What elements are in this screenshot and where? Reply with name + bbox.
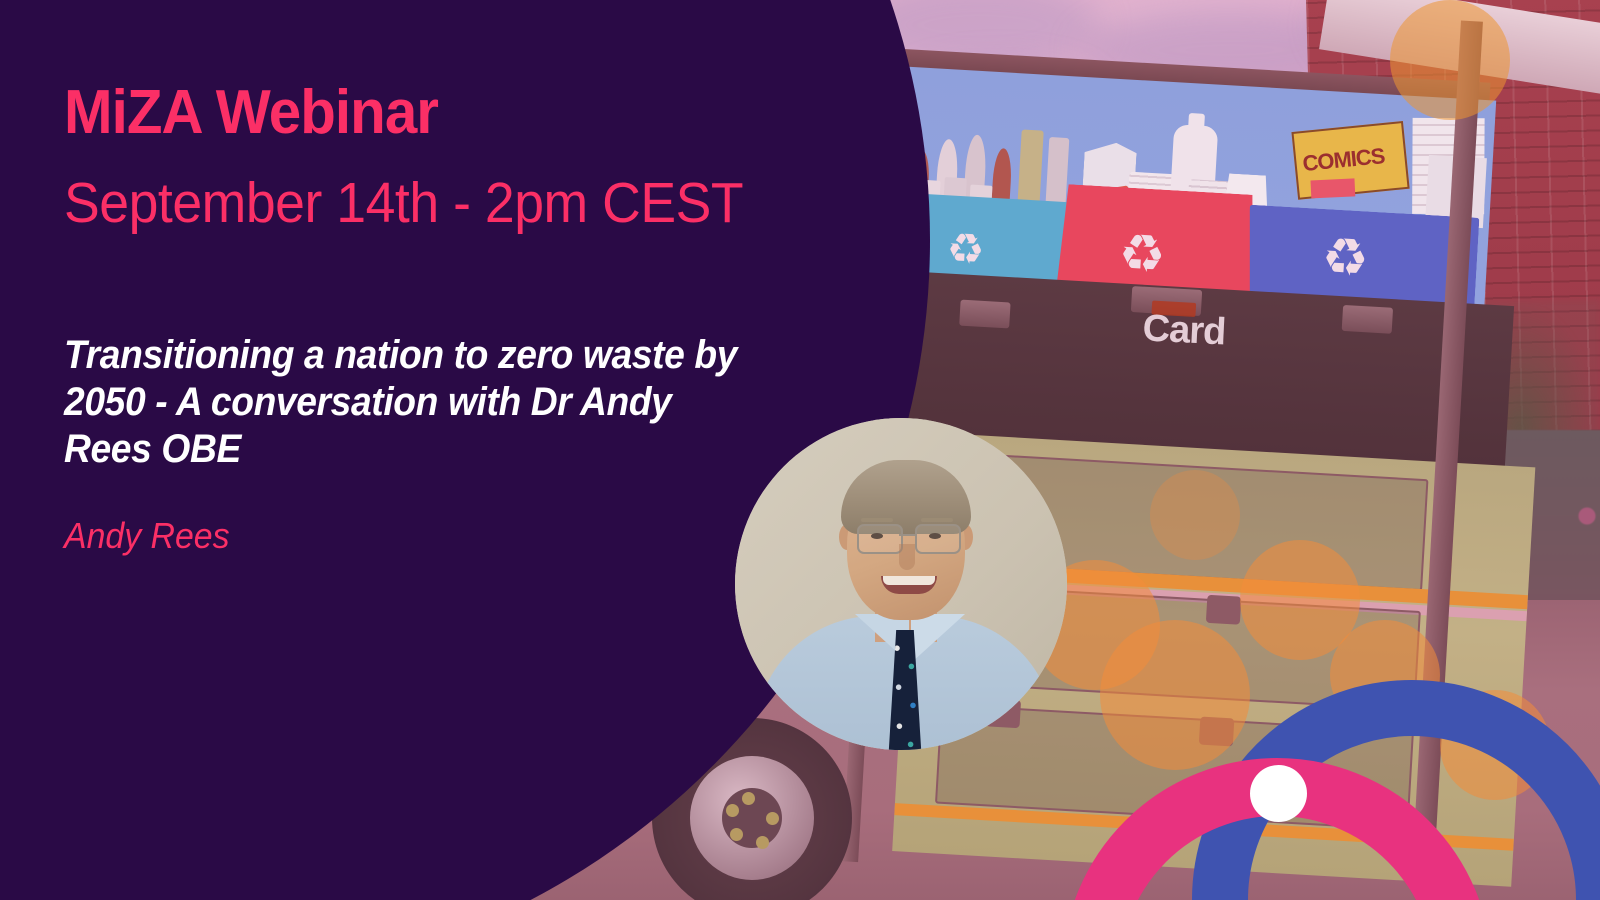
recycle-icon: ♻ (1117, 227, 1167, 282)
text-content: MiZA Webinar September 14th - 2pm CEST T… (0, 0, 820, 900)
orange-circle (1390, 0, 1510, 120)
avatar-glasses-bridge (899, 534, 915, 536)
recycle-icon: ♻ (1320, 231, 1370, 286)
avatar-eyebrow (921, 518, 953, 522)
compartment-latch (1342, 305, 1393, 334)
brand-title: MiZA Webinar (64, 82, 438, 144)
orange-circle (1150, 470, 1240, 560)
truck-card-label: Card (1142, 307, 1227, 354)
avatar-eyebrow (861, 518, 893, 522)
webinar-promo-banner: COMICS ♻ ♻ ♻ Card (0, 0, 1600, 900)
avatar-teeth (883, 576, 935, 585)
avatar-nose (899, 544, 915, 570)
recycle-icon: ♻ (946, 227, 986, 271)
speaker-name: Andy Rees (64, 518, 230, 554)
hinge (1206, 595, 1242, 625)
webinar-topic: Transitioning a nation to zero waste by … (64, 332, 743, 474)
orange-circle (1100, 620, 1250, 770)
event-date: September 14th - 2pm CEST (64, 175, 743, 232)
avatar-glasses-lens (915, 524, 961, 554)
comics-tag (1310, 178, 1355, 198)
comics-sign-label: COMICS (1301, 143, 1385, 177)
white-circle (1250, 765, 1307, 822)
avatar-glasses-lens (857, 524, 903, 554)
compartment-latch (959, 300, 1010, 329)
